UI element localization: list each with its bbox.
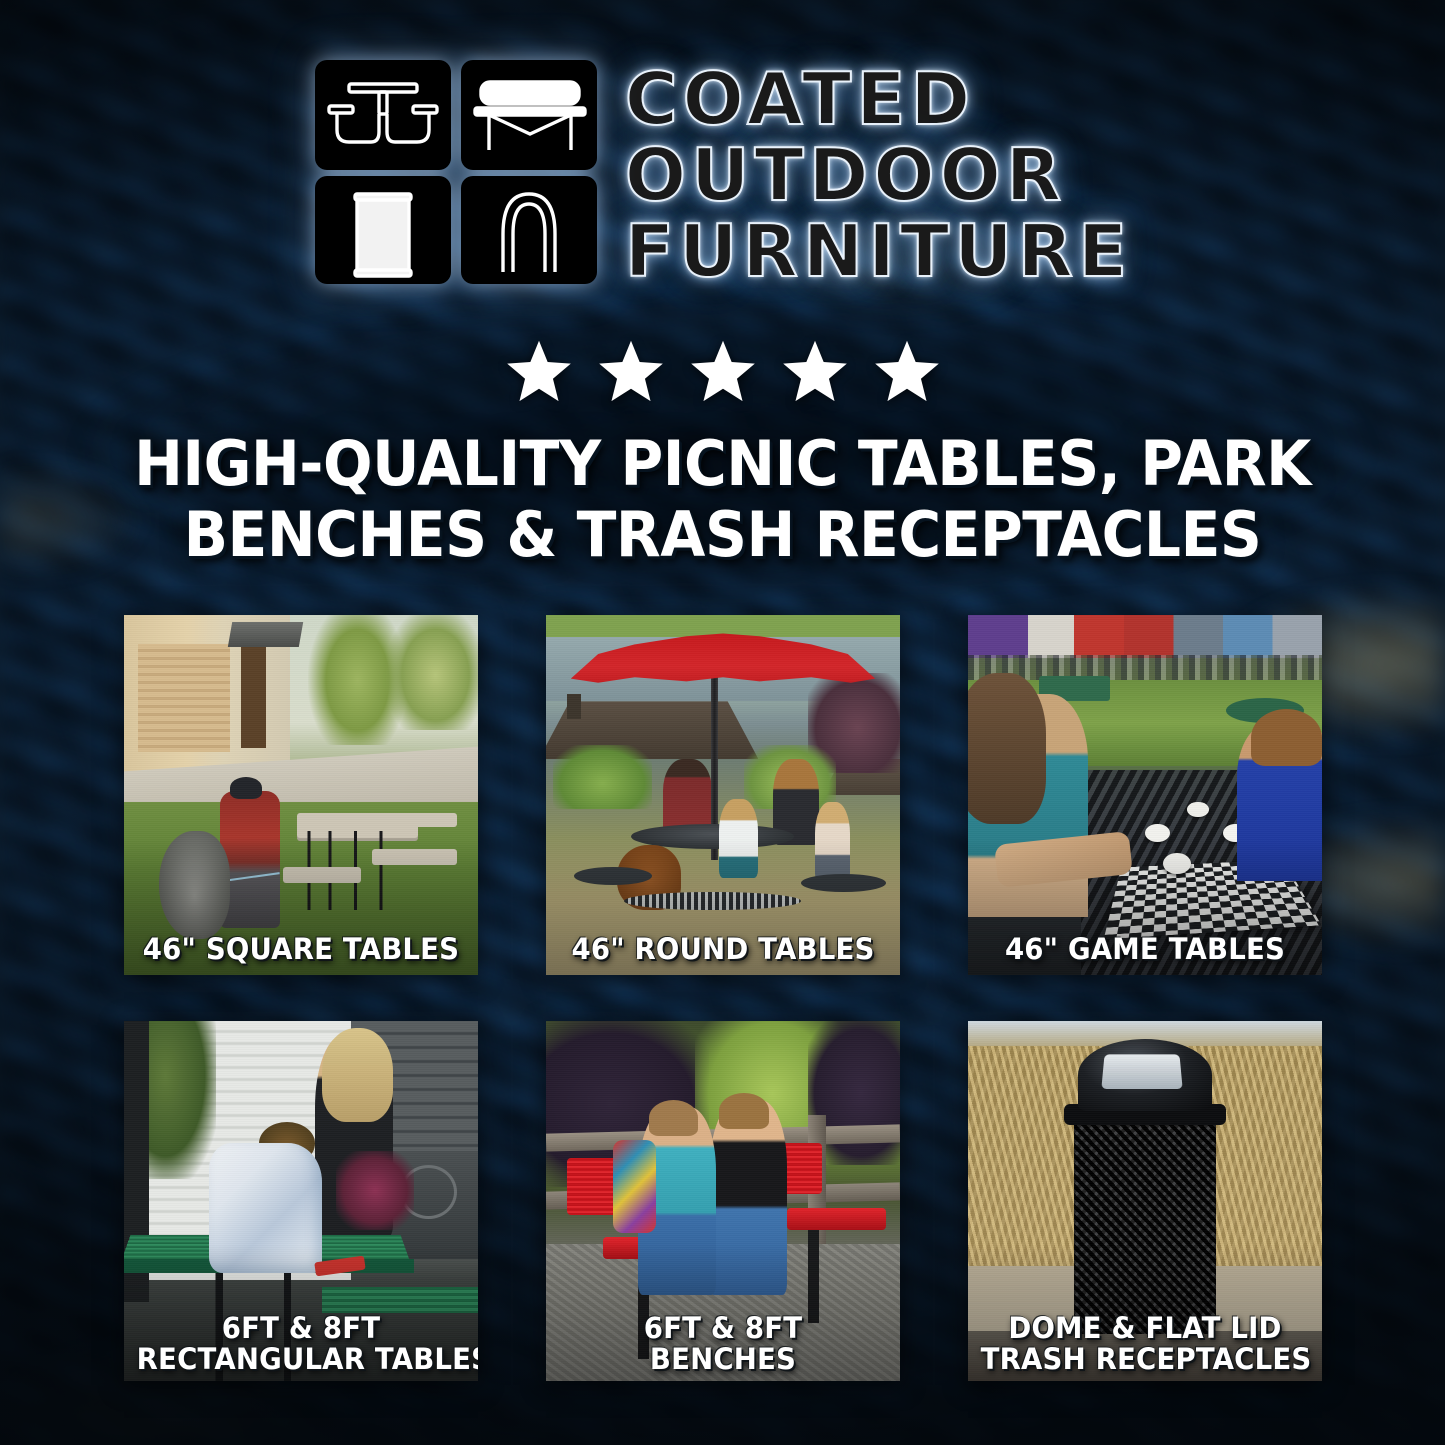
product-caption: 6FT & 8FT BENCHES — [559, 1313, 888, 1375]
star-icon — [504, 338, 574, 405]
product-photo — [124, 615, 478, 975]
product-photo — [968, 615, 1322, 975]
product-tile-grid: 46" SQUARE TABLES — [124, 615, 1322, 1381]
brand-lockup: COATED OUTDOOR FURNITURE — [0, 58, 1445, 288]
trash-can-body-icon — [357, 198, 409, 272]
star-icon — [688, 338, 758, 405]
star-rating — [0, 338, 1445, 405]
headline: HIGH-QUALITY PICNIC TABLES, PARK BENCHES… — [43, 428, 1401, 570]
product-tile-game-tables[interactable]: 46" GAME TABLES — [968, 615, 1322, 975]
bench-seat-icon — [481, 82, 579, 104]
brand-line-2: OUTDOOR — [625, 138, 1132, 212]
brand-line-1: COATED — [625, 62, 1132, 136]
product-tile-square-tables[interactable]: 46" SQUARE TABLES — [124, 615, 478, 975]
product-caption: DOME & FLAT LID TRASH RECEPTACLES — [981, 1313, 1310, 1375]
caption-line-1: 6FT & 8FT — [559, 1313, 888, 1344]
caption-line-1: 46" GAME TABLES — [981, 934, 1310, 965]
headline-line-1: HIGH-QUALITY PICNIC TABLES, PARK — [43, 428, 1401, 499]
headline-line-2: BENCHES & TRASH RECEPTACLES — [43, 499, 1401, 570]
caption-line-1: 6FT & 8FT — [137, 1313, 466, 1344]
product-caption: 6FT & 8FT RECTANGULAR TABLES — [137, 1313, 466, 1375]
caption-line-1: DOME & FLAT LID — [981, 1313, 1310, 1344]
brand-line-3: FURNITURE — [625, 214, 1132, 288]
product-caption: 46" SQUARE TABLES — [137, 934, 466, 965]
brand-wordmark: COATED OUTDOOR FURNITURE — [625, 58, 1132, 288]
product-tile-round-tables[interactable]: 46" ROUND TABLES — [546, 615, 900, 975]
product-photo — [546, 615, 900, 975]
product-tile-trash-receptacles[interactable]: DOME & FLAT LID TRASH RECEPTACLES — [968, 1021, 1322, 1381]
star-icon — [872, 338, 942, 405]
brand-logo-mark — [313, 58, 599, 286]
caption-line-1: 46" ROUND TABLES — [559, 934, 888, 965]
caption-line-2: BENCHES — [559, 1344, 888, 1375]
caption-line-2: TRASH RECEPTACLES — [981, 1344, 1310, 1375]
product-caption: 46" ROUND TABLES — [559, 934, 888, 965]
star-icon — [780, 338, 850, 405]
product-caption: 46" GAME TABLES — [981, 934, 1310, 965]
caption-line-2: RECTANGULAR TABLES — [137, 1344, 466, 1375]
star-icon — [596, 338, 666, 405]
product-tile-rectangular-tables[interactable]: 6FT & 8FT RECTANGULAR TABLES — [124, 1021, 478, 1381]
promo-poster: COATED OUTDOOR FURNITURE HIGH-QUALITY PI… — [0, 0, 1445, 1445]
caption-line-1: 46" SQUARE TABLES — [137, 934, 466, 965]
product-tile-benches[interactable]: 6FT & 8FT BENCHES — [546, 1021, 900, 1381]
